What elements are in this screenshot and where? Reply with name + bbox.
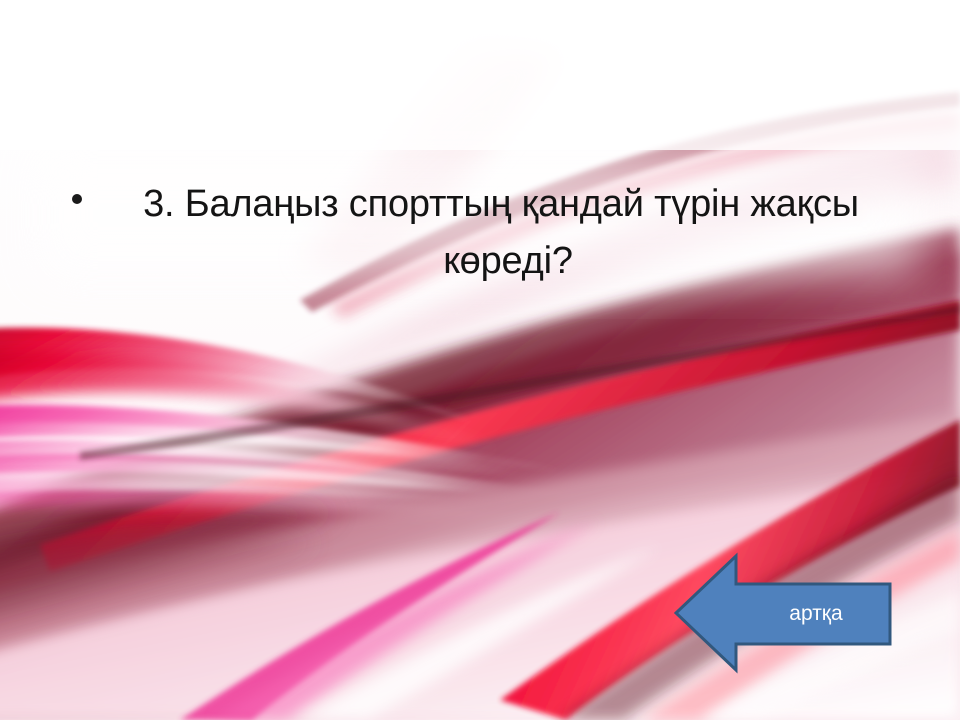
back-arrow-button[interactable]: артқа	[674, 552, 892, 674]
question-text: 3. Балаңыз спорттың қандай түрін жақсы к…	[128, 176, 888, 290]
bullet-icon	[72, 194, 82, 204]
left-arrow-icon	[674, 552, 892, 674]
slide-canvas: 3. Балаңыз спорттың қандай түрін жақсы к…	[0, 0, 960, 720]
question-text-block: 3. Балаңыз спорттың қандай түрін жақсы к…	[72, 176, 888, 290]
